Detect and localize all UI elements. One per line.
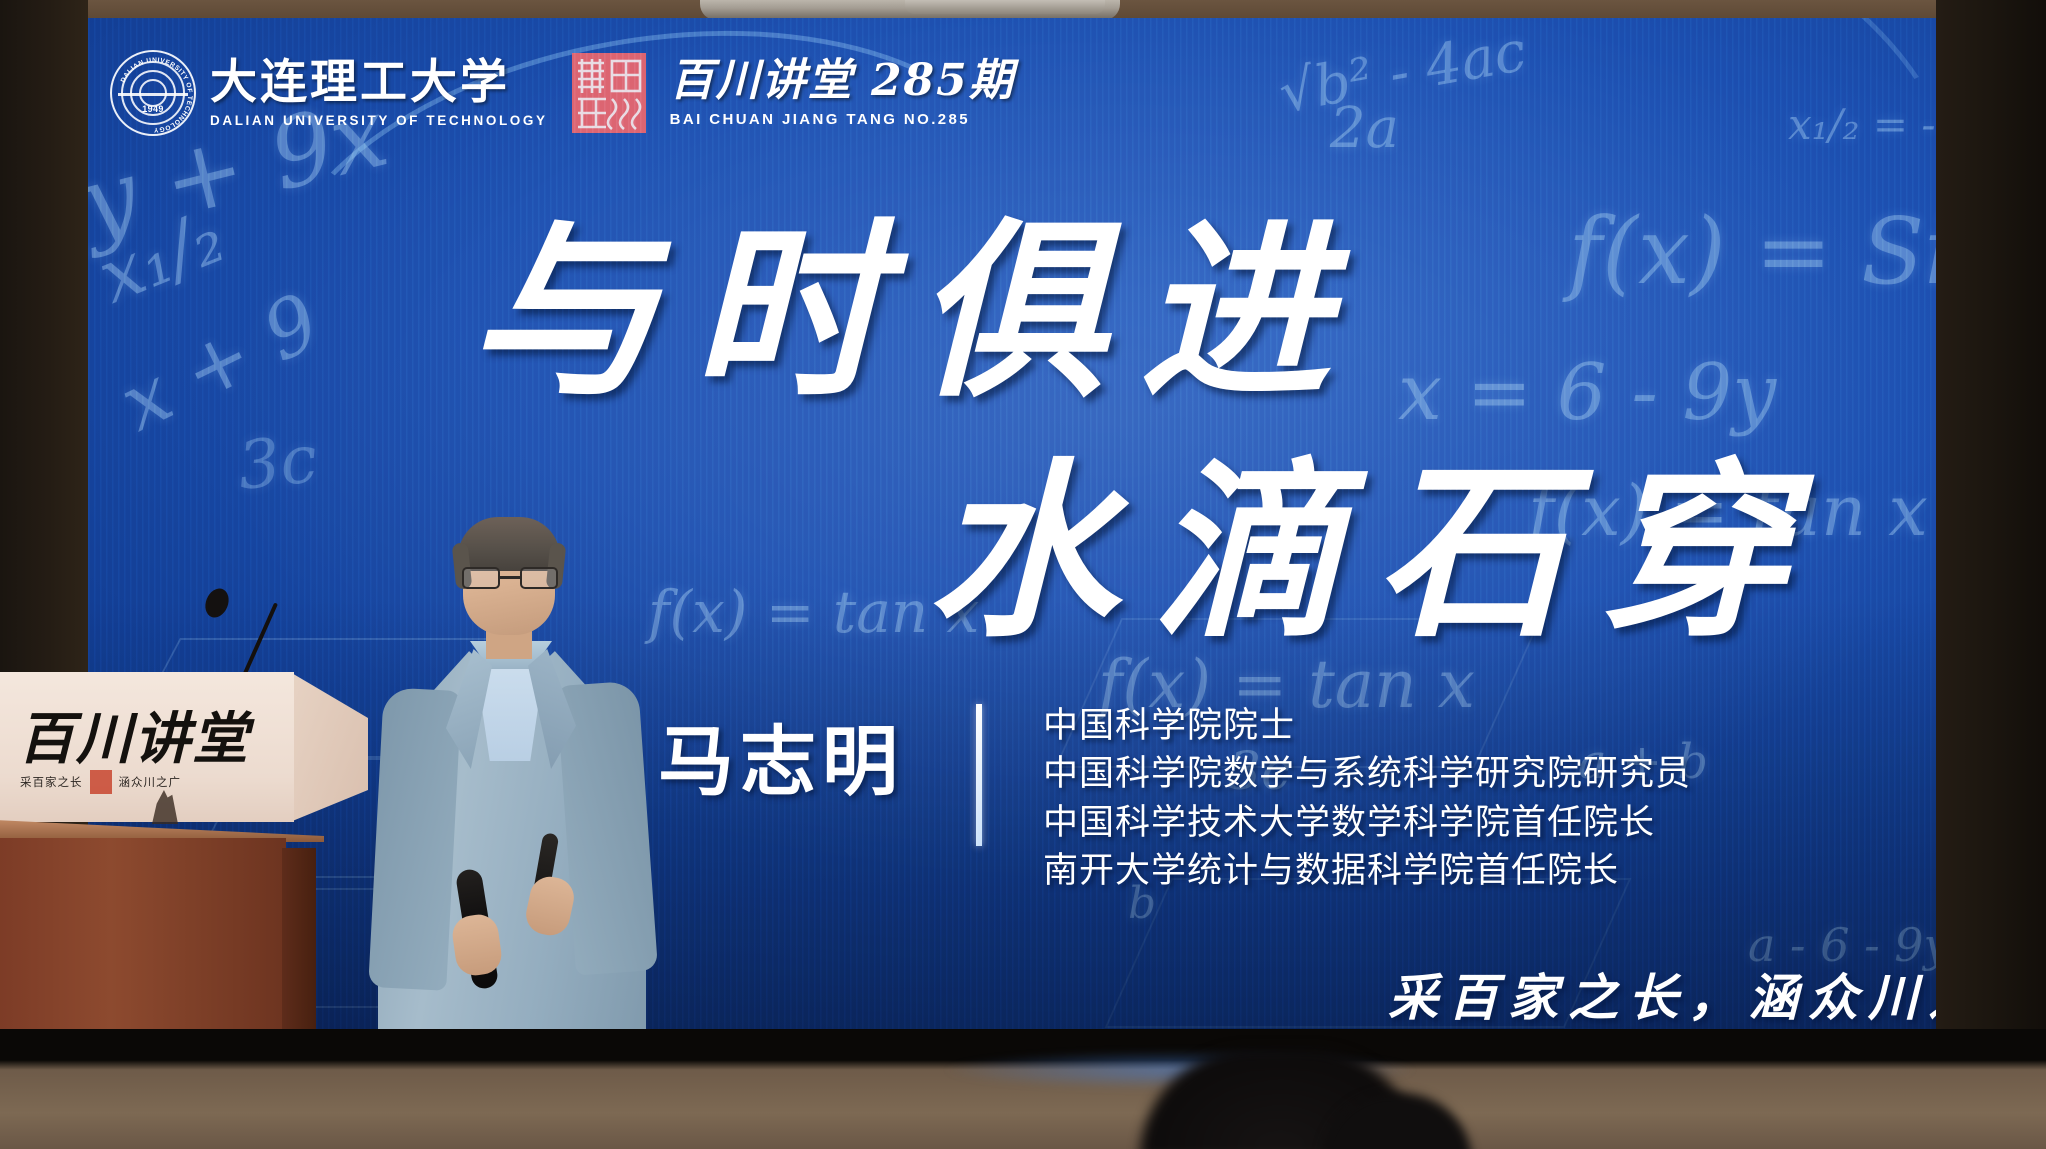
seal-stamp-icon <box>572 53 646 133</box>
lectern-seal-icon <box>90 770 112 794</box>
lecture-title-cn: 百川讲堂 285期 <box>670 59 1015 103</box>
lectern-front-panel: 百川讲堂 采百家之长 涵众川之广 <box>0 672 294 822</box>
presenter-left-arm <box>368 687 462 991</box>
dut-name-cn: 大连理工大学 <box>210 59 548 106</box>
dut-name-en: DALIAN UNIVERSITY OF TECHNOLOGY <box>210 113 548 128</box>
svg-text:DALIAN UNIVERSITY OF TECHNOLOG: DALIAN UNIVERSITY OF TECHNOLOGY <box>120 57 193 133</box>
math-formula: x₁/₂ <box>88 194 236 321</box>
right-wall <box>1936 0 2046 1149</box>
presenter-hair <box>458 517 560 571</box>
ceiling-projector <box>905 0 1105 14</box>
lectern-subtitle-right: 涵众川之广 <box>119 774 182 790</box>
poster-title-line1: 与时俱进 <box>468 158 1364 433</box>
poster-title-line2: 水滴石穿 <box>928 398 1824 673</box>
speaker-credentials: 中国科学院院士 中国科学院数学与系统科学研究院研究员 中国科学技术大学数学科学院… <box>1043 702 1691 895</box>
dut-logo-icon: 1949 DALIAN UNIVERSITY OF TECHNOLOGY <box>110 50 196 136</box>
lecture-title-en: BAI CHUAN JIANG TANG NO.285 <box>670 111 1015 128</box>
presenter-glasses <box>462 567 558 589</box>
math-formula: 3c <box>234 420 321 505</box>
lectern-subtitle: 采百家之长 涵众川之广 <box>20 770 270 794</box>
speaker-name: 马志明 <box>658 700 904 810</box>
credential-line: 中国科学技术大学数学科学院首任院长 <box>1043 799 1691 847</box>
lectern-subtitle-left: 采百家之长 <box>20 774 83 790</box>
lecture-series-wordmark: 百川讲堂 285期 BAI CHUAN JIANG TANG NO.285 <box>670 59 1015 128</box>
lectern-title: 百川讲堂 <box>18 694 250 775</box>
poster-header: 1949 DALIAN UNIVERSITY OF TECHNOLOGY 大连理… <box>88 38 1936 148</box>
credential-line: 南开大学统计与数据科学院首任院长 <box>1043 847 1691 895</box>
lecture-hall-photo: y + 9x x₁/₂ x + 9 3c √b² - 4ac 2a x₁/₂ =… <box>0 0 2046 1149</box>
lectern-mountain-motif <box>152 790 178 824</box>
credential-line: 中国科学院院士 <box>1043 702 1691 750</box>
speaker-divider <box>976 704 982 846</box>
lectern-side-panel <box>290 672 368 822</box>
credential-line: 中国科学院数学与系统科学研究院研究员 <box>1043 750 1691 798</box>
poster-slogan: 采百家之长，涵众川之广 <box>1388 958 1936 1030</box>
dut-wordmark: 大连理工大学 DALIAN UNIVERSITY OF TECHNOLOGY <box>210 59 548 128</box>
